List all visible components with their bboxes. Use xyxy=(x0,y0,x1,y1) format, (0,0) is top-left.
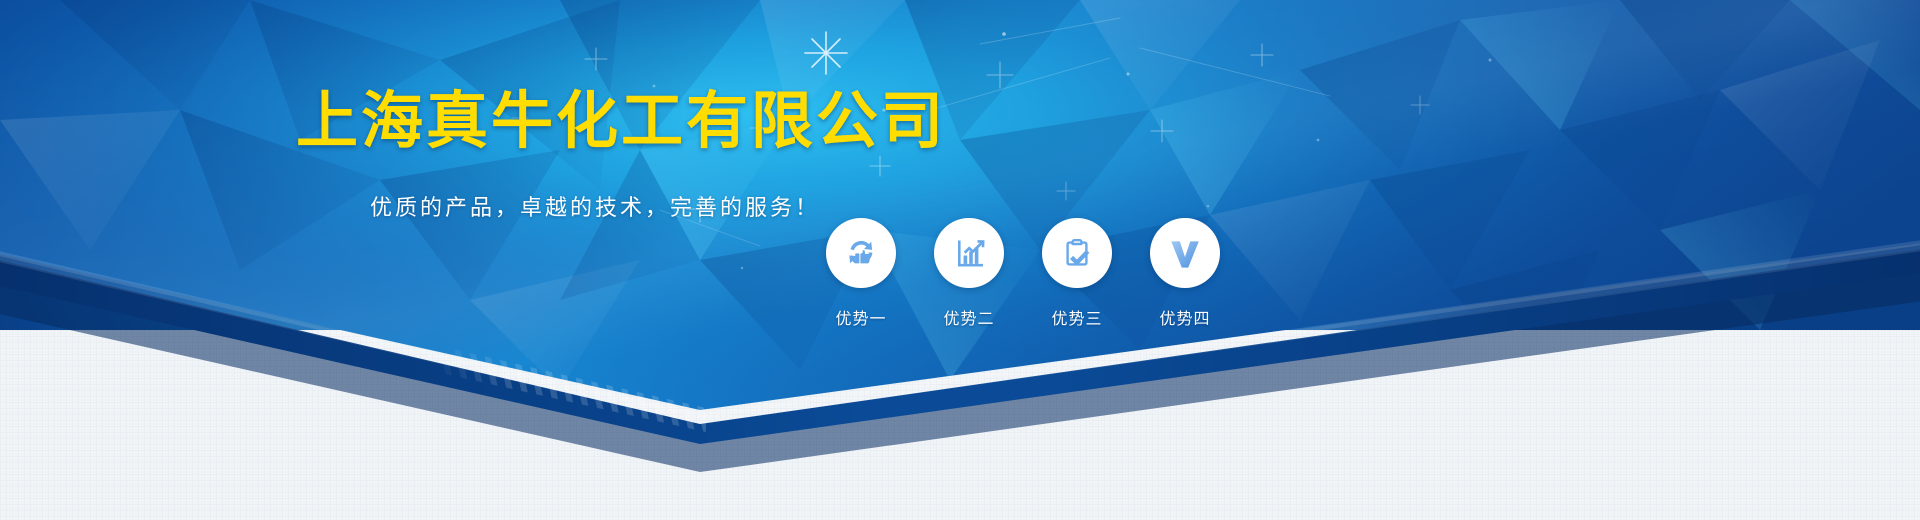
advantage-icon-circle-4[interactable] xyxy=(1150,218,1220,288)
advantage-label-3: 优势三 xyxy=(1051,305,1102,329)
page-title: 上海真牛化工有限公司 xyxy=(296,91,946,153)
clipboard-check-icon xyxy=(1057,233,1097,273)
refresh-thumbs-up-icon xyxy=(841,233,881,273)
advantage-icon-circle-3[interactable] xyxy=(1042,218,1112,288)
company-hero-banner: 上海真牛化工有限公司 优质的产品，卓越的技术，完善的服务！ xyxy=(0,0,1920,520)
advantage-label-4: 优势四 xyxy=(1159,305,1210,329)
bar-chart-growth-icon xyxy=(949,233,989,273)
advantage-item-2[interactable]: 优势二 xyxy=(934,218,1004,329)
advantage-label-1: 优势一 xyxy=(835,305,886,329)
advantages-list: 优势一 优势二 xyxy=(826,218,1220,329)
letter-v-icon xyxy=(1165,233,1205,273)
advantage-item-3[interactable]: 优势三 xyxy=(1042,218,1112,329)
page-subtitle: 优质的产品，卓越的技术，完善的服务！ xyxy=(370,197,820,219)
advantage-icon-circle-1[interactable] xyxy=(826,218,896,288)
advantage-label-2: 优势二 xyxy=(943,305,994,329)
advantage-item-4[interactable]: 优势四 xyxy=(1150,218,1220,329)
advantage-icon-circle-2[interactable] xyxy=(934,218,1004,288)
advantage-item-1[interactable]: 优势一 xyxy=(826,218,896,329)
